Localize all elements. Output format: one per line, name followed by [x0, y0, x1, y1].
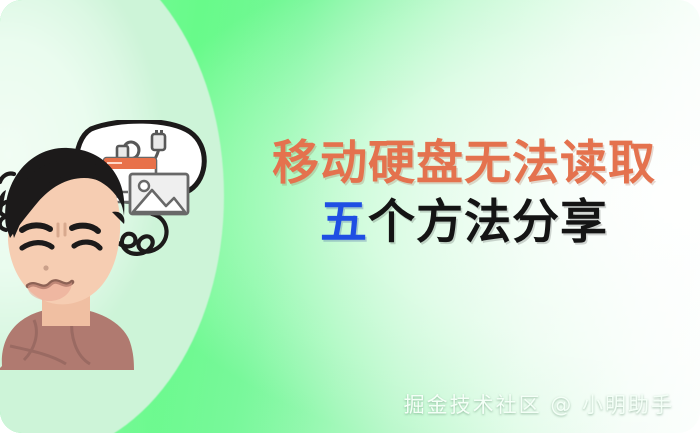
worried-person-illustration — [0, 120, 244, 370]
article-cover-card: 移动硬盘无法读取 五个方法分享 掘金技术社区 @ 小明助手 — [0, 0, 700, 433]
watermark-credit: 掘金技术社区 @ 小明助手 — [404, 389, 674, 419]
headline-number: 五 — [320, 195, 368, 250]
headline-block: 移动硬盘无法读取 五个方法分享 — [246, 140, 682, 247]
usb-plug-icon — [152, 134, 165, 150]
character-nose — [43, 265, 48, 270]
character-figure — [0, 148, 134, 370]
headline-secondary-rest: 个方法分享 — [368, 195, 608, 250]
headline-primary-line: 移动硬盘无法读取 — [246, 140, 682, 188]
broken-image-icon — [130, 174, 188, 214]
headline-secondary-line: 五个方法分享 — [246, 199, 682, 247]
